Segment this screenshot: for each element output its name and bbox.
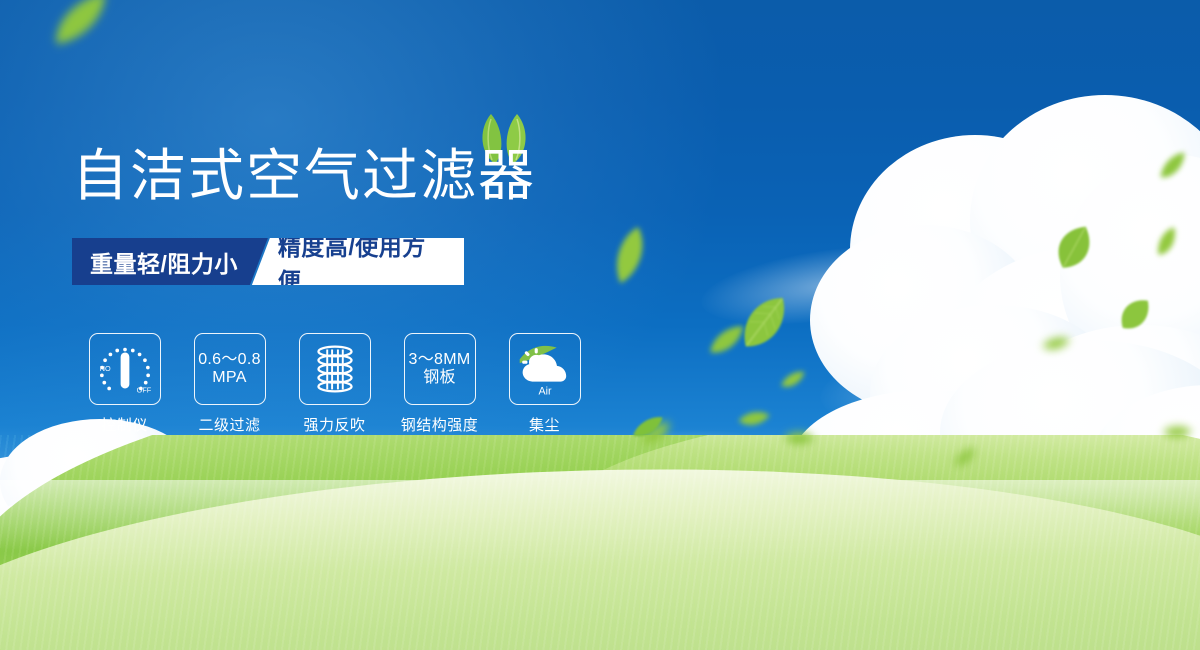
ribbon-left-text: 重量轻/阻力小 <box>72 238 268 285</box>
ribbon-right-text: 精度高/使用方便 <box>252 238 464 285</box>
control-dial-icon: NO OFF <box>89 333 161 405</box>
feature-icon-row: NO OFF 控制仪 0.6～0.8 MPA 二级过滤 <box>72 333 597 435</box>
air-cloud-icon: Air <box>509 333 581 405</box>
coil-filter-icon <box>299 333 371 405</box>
feature-caption: 二级过滤 <box>198 414 260 435</box>
product-hero-banner: 自洁式空气过滤器 重量轻/阻力小 精度高/使用方便 <box>0 0 1200 650</box>
steel-plate-icon: 3～8MM 钢板 <box>404 333 476 405</box>
feature-item-backblow[interactable]: 强力反吹 <box>282 333 387 435</box>
pressure-value-line1: 0.6～0.8 <box>198 351 261 368</box>
dial-off-label: OFF <box>136 385 151 394</box>
pressure-value-line2: MPA <box>212 369 246 386</box>
page-title: 自洁式空气过滤器 <box>72 148 536 204</box>
feature-ribbon: 重量轻/阻力小 精度高/使用方便 <box>72 238 464 285</box>
grass-landscape <box>0 435 1200 650</box>
air-label: Air <box>538 385 552 397</box>
pressure-value-icon: 0.6～0.8 MPA <box>194 333 266 405</box>
steel-value-line2: 钢板 <box>423 369 456 386</box>
feature-caption: 钢结构强度 <box>401 414 479 435</box>
feature-caption: 控制仪 <box>101 414 148 435</box>
feature-item-dust[interactable]: Air 集尘 <box>492 333 597 435</box>
steel-value-line1: 3～8MM <box>409 351 471 368</box>
feature-caption: 强力反吹 <box>303 414 365 435</box>
feature-item-control[interactable]: NO OFF 控制仪 <box>72 333 177 435</box>
feature-caption: 集尘 <box>529 414 560 435</box>
feature-item-pressure[interactable]: 0.6～0.8 MPA 二级过滤 <box>177 333 282 435</box>
feature-item-steel[interactable]: 3～8MM 钢板 钢结构强度 <box>387 333 492 435</box>
dial-no-label: NO <box>99 364 110 373</box>
